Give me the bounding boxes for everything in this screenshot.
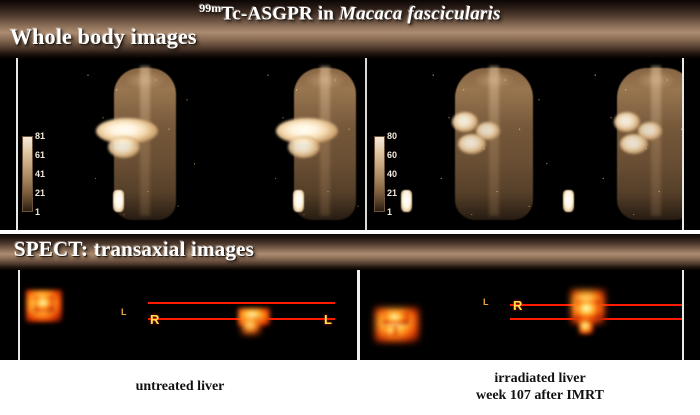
scintigraphy-noise bbox=[576, 62, 682, 226]
wholebody-right-edge bbox=[682, 58, 684, 230]
wholebody-image-anterior-irradiated bbox=[414, 62, 574, 226]
caption-untreated-text: untreated liver bbox=[136, 379, 225, 394]
wholebody-panel-irradiated: 80 60 40 21 1 bbox=[368, 58, 682, 230]
spect-orientation-marker-small: L bbox=[121, 308, 127, 317]
spect-liver-uptake-core bbox=[575, 300, 601, 320]
spect-orientation-marker-right: R bbox=[150, 313, 159, 326]
spect-panel-divider bbox=[357, 270, 360, 360]
reference-marker-source bbox=[401, 190, 412, 212]
spect-band: SPECT: transaxial images bbox=[0, 234, 700, 270]
spect-orientation-marker-small: L bbox=[483, 298, 489, 307]
scintigraphy-noise bbox=[414, 62, 574, 226]
section-heading-spect: SPECT: transaxial images bbox=[14, 237, 254, 262]
scale-tick: 21 bbox=[387, 189, 397, 198]
isotope-superscript: 99m bbox=[199, 1, 221, 15]
scintigraphy-noise bbox=[70, 62, 220, 226]
spect-orientation-marker-left: L bbox=[324, 313, 332, 326]
tracer-name: Tc-ASGPR in bbox=[221, 3, 339, 24]
color-scale-bar-right bbox=[374, 136, 385, 212]
spect-hotspot-core-secondary bbox=[385, 326, 397, 336]
caption-untreated: untreated liver bbox=[60, 378, 300, 395]
reference-marker-source bbox=[113, 190, 124, 212]
scale-tick: 80 bbox=[387, 132, 397, 141]
spect-reference-line-upper bbox=[148, 302, 335, 304]
color-scale-bar-left bbox=[22, 136, 33, 212]
caption-irradiated-line1: irradiated liver bbox=[420, 370, 660, 387]
spect-liver-uptake-tail bbox=[242, 318, 260, 334]
scale-tick: 1 bbox=[387, 208, 392, 217]
spect-panel-irradiated: L R L bbox=[363, 270, 682, 360]
scale-tick: 40 bbox=[387, 170, 397, 179]
species-name: Macaca fascicularis bbox=[339, 3, 501, 24]
spect-panel-untreated: L R L bbox=[20, 270, 357, 360]
wholebody-image-anterior-untreated bbox=[70, 62, 220, 226]
scale-tick: 81 bbox=[35, 132, 45, 141]
spect-right-edge bbox=[682, 270, 684, 360]
spect-liver-uptake-tail bbox=[579, 320, 593, 334]
figure-root: 99mTc-ASGPR in Macaca fascicularis Whole… bbox=[0, 0, 700, 415]
wholebody-image-posterior-irradiated bbox=[576, 62, 682, 226]
spect-orientation-marker-right: R bbox=[513, 299, 522, 312]
wholebody-panel-untreated: 81 61 41 21 1 bbox=[18, 58, 366, 230]
scale-tick: 60 bbox=[387, 151, 397, 160]
caption-irradiated: irradiated liver week 107 after IMRT bbox=[420, 370, 660, 404]
section-heading-wholebody: Whole body images bbox=[10, 24, 197, 50]
scale-tick: 41 bbox=[35, 170, 45, 179]
figure-title: 99mTc-ASGPR in Macaca fascicularis bbox=[0, 1, 700, 25]
caption-irradiated-line2: week 107 after IMRT bbox=[420, 387, 660, 404]
scale-tick: 61 bbox=[35, 151, 45, 160]
reference-marker-source bbox=[563, 190, 574, 212]
title-band: 99mTc-ASGPR in Macaca fascicularis Whole… bbox=[0, 0, 700, 58]
scale-tick: 1 bbox=[35, 208, 40, 217]
wholebody-panel-divider bbox=[365, 58, 367, 230]
scintigraphy-noise bbox=[250, 62, 366, 226]
spect-hotspot-core bbox=[34, 296, 54, 312]
wholebody-image-posterior-untreated bbox=[250, 62, 366, 226]
spect-hotspot-core bbox=[383, 312, 409, 324]
scale-tick: 21 bbox=[35, 189, 45, 198]
reference-marker-source bbox=[293, 190, 304, 212]
